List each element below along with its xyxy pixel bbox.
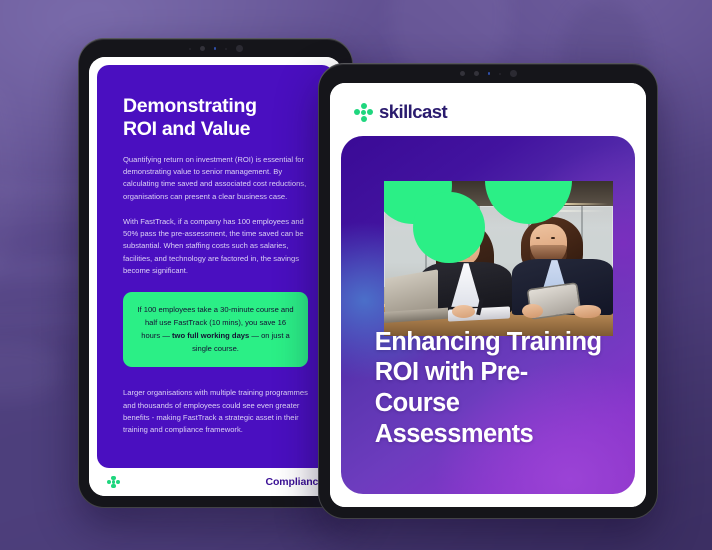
front-camera-array (318, 70, 658, 77)
callout-emphasis: two full working days (172, 331, 249, 340)
brand-name: skillcast (379, 101, 447, 123)
screen-left: Demonstrating ROI and Value Quantifying … (89, 57, 342, 496)
cover-title-line-3: Assessments (375, 419, 612, 450)
body-paragraph-3: Larger organisations with multiple train… (123, 387, 308, 436)
front-camera-array (78, 45, 353, 52)
tablet-device-left[interactable]: Demonstrating ROI and Value Quantifying … (78, 38, 353, 508)
footer-word: Compliance (265, 476, 324, 488)
body-paragraph-1: Quantifying return on investment (ROI) i… (123, 154, 308, 203)
highlight-callout: If 100 employees take a 30-minute course… (123, 292, 308, 367)
page-title-line-2: ROI and Value (123, 118, 308, 141)
screen-right: skillcast (330, 83, 646, 507)
cover-artwork: Enhancing Training ROI with Pre-Course A… (341, 136, 635, 494)
cover-title: Enhancing Training ROI with Pre-Course A… (375, 327, 612, 449)
green-circle-decoration (413, 192, 484, 263)
skillcast-dots-icon (107, 476, 120, 489)
body-paragraph-2: With FastTrack, if a company has 100 emp… (123, 216, 308, 277)
cover-title-line-1: Enhancing Training (375, 327, 612, 358)
brand-logo: skillcast (341, 97, 635, 123)
page-footer: Compliance (97, 468, 334, 496)
purple-content-sheet: Demonstrating ROI and Value Quantifying … (97, 65, 334, 468)
document-page-interior: Demonstrating ROI and Value Quantifying … (89, 57, 342, 496)
skillcast-dots-icon (354, 103, 373, 122)
tablet-device-right[interactable]: skillcast (318, 63, 658, 519)
document-page-cover: skillcast (330, 83, 646, 507)
page-title-line-1: Demonstrating (123, 95, 308, 118)
cover-title-line-2: ROI with Pre-Course (375, 357, 612, 418)
cover-photo (384, 181, 613, 337)
page-title: Demonstrating ROI and Value (123, 95, 308, 141)
